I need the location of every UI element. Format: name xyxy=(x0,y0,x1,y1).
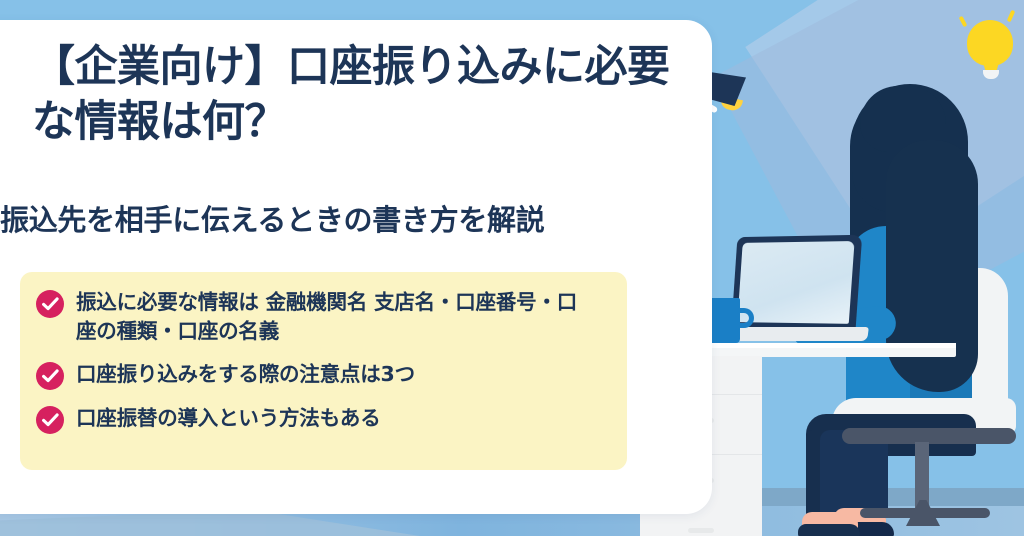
key-points-list: 振込に必要な情報は 金融機関名 支店名・口座番号・口座の種類・口座の名義 口座振… xyxy=(36,288,609,434)
list-item-label: 振込に必要な情報は 金融機関名 支店名・口座番号・口座の種類・口座の名義 xyxy=(76,288,596,346)
drawer-handle[interactable] xyxy=(688,528,714,533)
page-title: 【企業向け】口座振り込みに必要な情報は何？ xyxy=(32,40,672,150)
laptop-screen xyxy=(737,241,854,324)
banner-canvas: 【企業向け】口座振り込みに必要な情報は何？ 振込先を相手に伝えるときの書き方を解… xyxy=(0,0,1024,536)
list-item: 口座振り込みをする際の注意点は3つ xyxy=(36,360,609,390)
check-circle-icon xyxy=(36,406,64,434)
check-circle-icon xyxy=(36,290,64,318)
check-circle-icon xyxy=(36,362,64,390)
list-item-label: 口座振り込みをする際の注意点は3つ xyxy=(76,360,415,389)
coffee-mug xyxy=(708,298,740,343)
lightbulb-ray xyxy=(1007,10,1016,23)
page-title-text: 【企業向け】口座振り込みに必要な情報は何？ xyxy=(32,42,670,147)
list-item-label: 口座振替の導入という方法もある xyxy=(76,404,381,433)
lightbulb-ray xyxy=(959,16,968,28)
woman-shoe-front xyxy=(798,524,860,536)
office-chair-support-bar xyxy=(842,428,1016,444)
page-subtitle: 振込先を相手に伝えるときの書き方を解説 xyxy=(0,202,670,240)
office-chair-base xyxy=(860,508,990,518)
content-card: 【企業向け】口座振り込みに必要な情報は何？ 振込先を相手に伝えるときの書き方を解… xyxy=(0,20,712,514)
lightbulb-base xyxy=(983,70,999,79)
list-item: 振込に必要な情報は 金融機関名 支店名・口座番号・口座の種類・口座の名義 xyxy=(36,288,609,346)
list-item: 口座振替の導入という方法もある xyxy=(36,404,609,434)
lightbulb-icon xyxy=(959,8,1019,88)
key-points-box: 振込に必要な情報は 金融機関名 支店名・口座番号・口座の種類・口座の名義 口座振… xyxy=(20,272,627,470)
